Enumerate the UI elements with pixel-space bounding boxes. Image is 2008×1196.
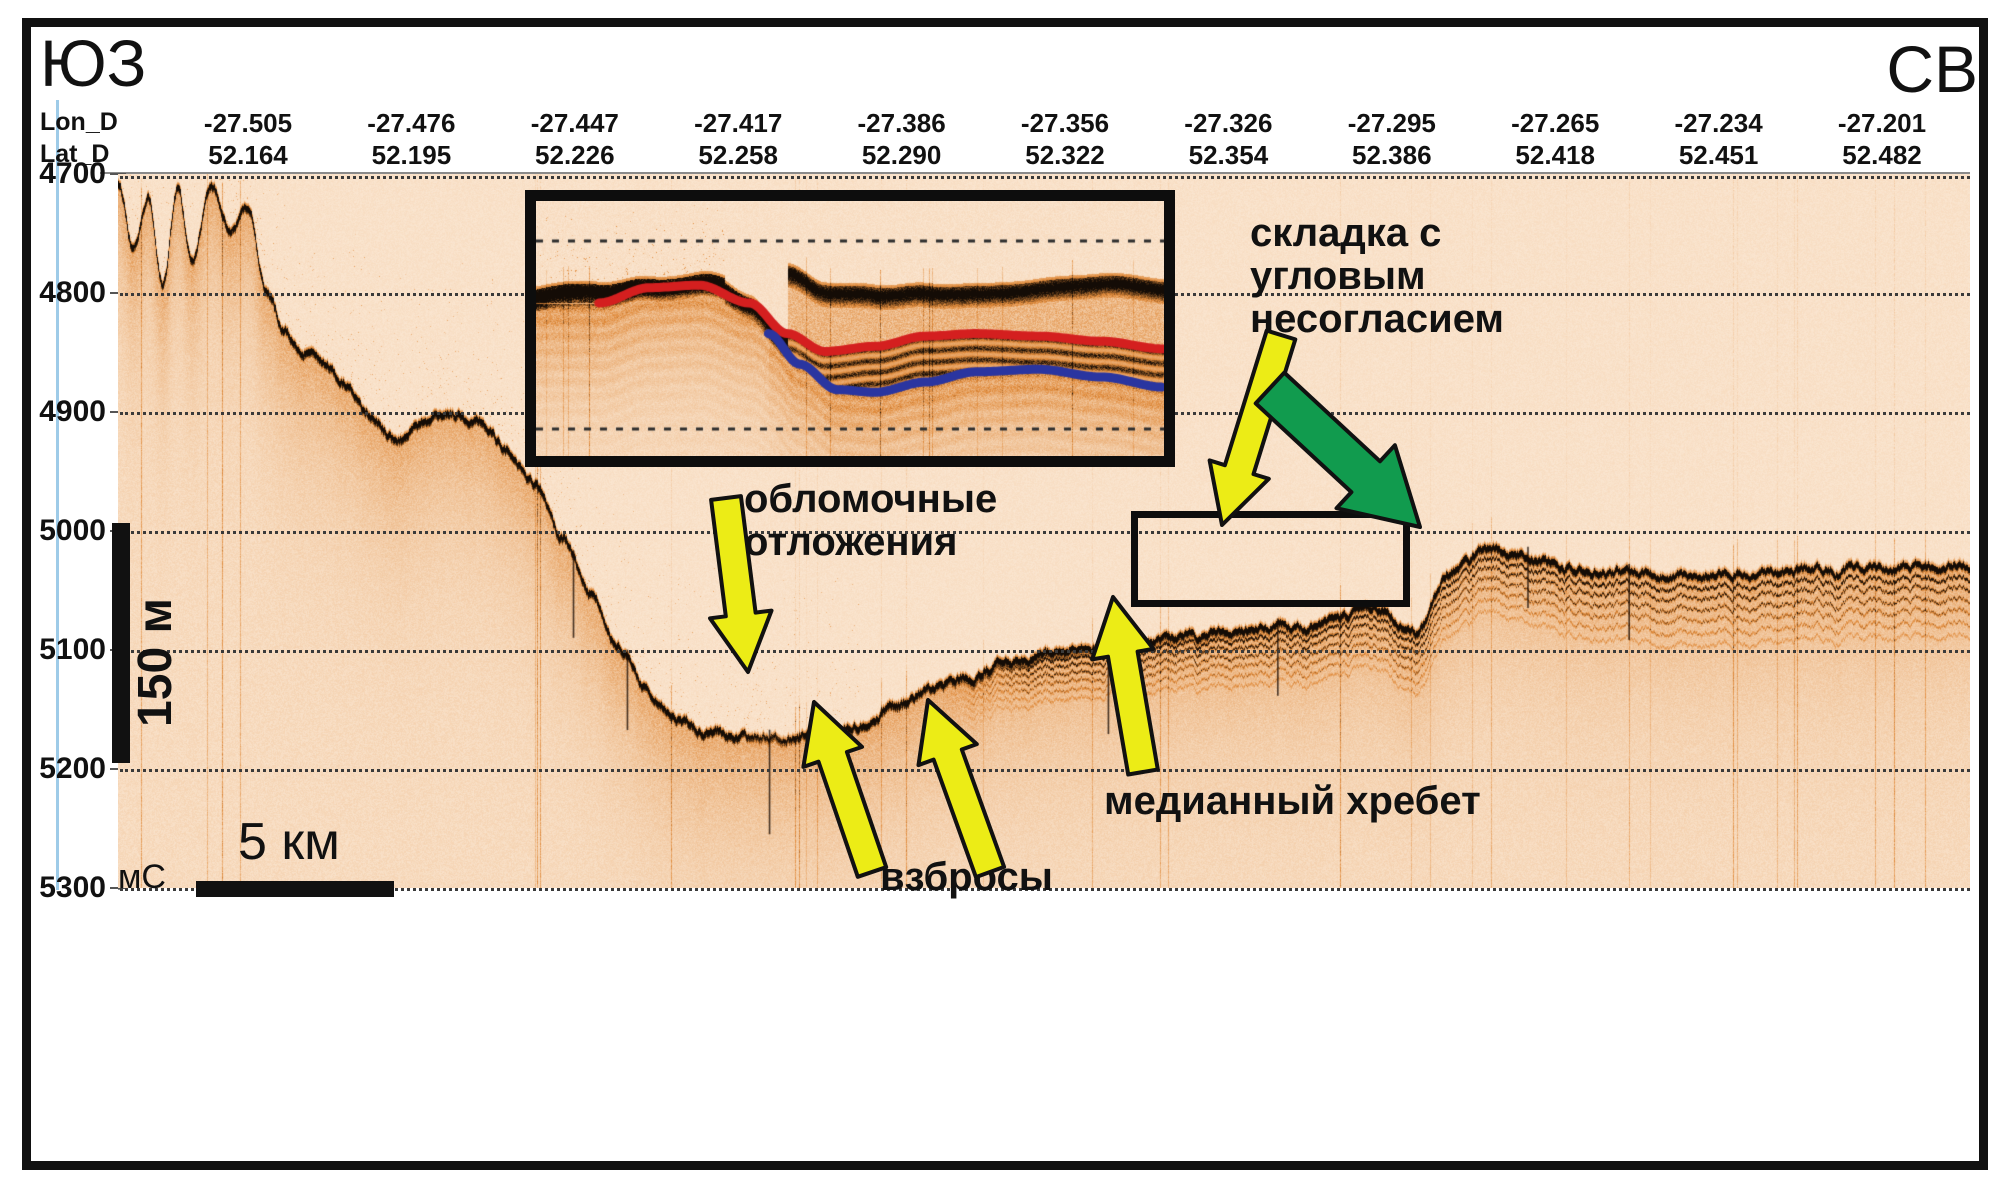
latitude-tick-label: 52.451 xyxy=(1679,140,1759,171)
longitude-tick-label: -27.386 xyxy=(858,108,946,139)
depth-gridline xyxy=(120,769,1970,772)
annotation-thrust-faults: взбросы xyxy=(880,856,1053,899)
y-axis-tick-label: 4800 xyxy=(39,276,106,310)
latitude-tick-label: 52.322 xyxy=(1025,140,1105,171)
horizontal-scale-label: 5 км xyxy=(238,812,340,872)
longitude-tick-label: -27.201 xyxy=(1838,108,1926,139)
orientation-label-southwest: ЮЗ xyxy=(40,30,147,96)
longitude-tick-label: -27.295 xyxy=(1348,108,1436,139)
depth-gridline xyxy=(120,650,1970,653)
longitude-tick-label: -27.356 xyxy=(1021,108,1109,139)
y-axis-tick-label: 4700 xyxy=(39,157,106,191)
latitude-tick-label: 52.290 xyxy=(862,140,942,171)
longitude-row-label: Lon_D xyxy=(40,108,118,137)
y-axis-tick-label: 5000 xyxy=(39,514,106,548)
vertical-scale-label: 150 м xyxy=(128,598,183,727)
latitude-tick-label: 52.226 xyxy=(535,140,615,171)
annotation-median-ridge: медианный хребет xyxy=(1104,780,1481,823)
longitude-tick-label: -27.417 xyxy=(694,108,782,139)
annotation-debris-deposits: обломочные отложения xyxy=(744,478,997,564)
longitude-tick-label: -27.476 xyxy=(367,108,455,139)
y-axis-tick-label: 4900 xyxy=(39,395,106,429)
depth-unit-label: мС xyxy=(118,858,166,897)
longitude-tick-label: -27.265 xyxy=(1511,108,1599,139)
latitude-tick-label: 52.195 xyxy=(372,140,452,171)
orientation-label-northeast: СВ xyxy=(1886,36,1978,102)
longitude-tick-label: -27.505 xyxy=(204,108,292,139)
depth-gridline xyxy=(120,176,1970,179)
latitude-tick-label: 52.386 xyxy=(1352,140,1432,171)
latitude-tick-label: 52.258 xyxy=(698,140,778,171)
inset-detail-panel xyxy=(525,190,1175,467)
coordinate-header: Lon_D Lat_D -27.50552.164-27.47652.195-2… xyxy=(40,108,1970,170)
y-axis-tick-label: 5200 xyxy=(39,752,106,786)
latitude-tick-label: 52.354 xyxy=(1189,140,1269,171)
horizontal-scale-bar xyxy=(196,881,394,897)
depth-gridline xyxy=(120,531,1970,534)
latitude-tick-label: 52.482 xyxy=(1842,140,1922,171)
annotation-fold-unconformity: складка с угловым несогласием xyxy=(1250,212,1504,342)
latitude-tick-label: 52.418 xyxy=(1515,140,1595,171)
roi-highlight-rectangle xyxy=(1131,511,1410,607)
longitude-tick-label: -27.234 xyxy=(1675,108,1763,139)
y-axis-tick-label: 5300 xyxy=(39,871,106,905)
longitude-tick-label: -27.447 xyxy=(531,108,619,139)
seismic-profile-figure: ЮЗ СВ Lon_D Lat_D -27.50552.164-27.47652… xyxy=(0,0,2008,1196)
longitude-tick-label: -27.326 xyxy=(1184,108,1272,139)
y-axis-tick-label: 5100 xyxy=(39,633,106,667)
inset-seismic-canvas xyxy=(536,201,1164,456)
latitude-tick-label: 52.164 xyxy=(208,140,288,171)
